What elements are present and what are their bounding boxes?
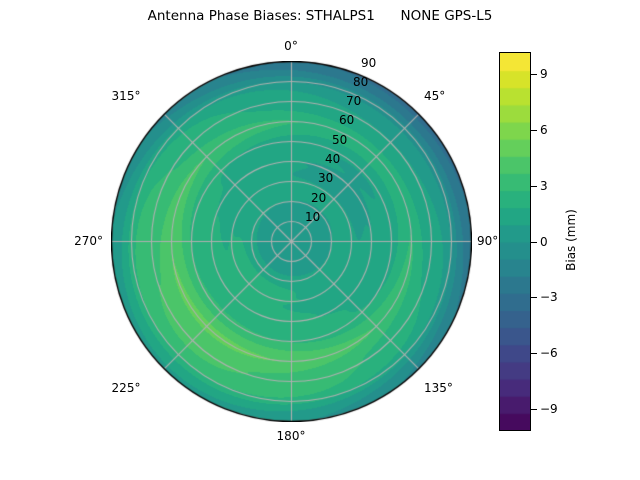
- colorbar-ticklabel-9: 9: [540, 67, 548, 81]
- figure-title: Antenna Phase Biases: STHALPS1 NONE GPS-…: [0, 8, 640, 24]
- colorbar-tick-6: [531, 130, 537, 131]
- colorbar-tick-9: [531, 74, 537, 75]
- theta-label-315: 315°: [112, 89, 141, 103]
- theta-label-45: 45°: [424, 89, 445, 103]
- colorbar-ticklabel-m6: −6: [540, 346, 558, 360]
- colorbar-ticklabel-m9: −9: [540, 402, 558, 416]
- colorbar-ticklabel-6: 6: [540, 123, 548, 137]
- polar-contour-plot: [111, 61, 472, 422]
- theta-label-135: 135°: [424, 381, 453, 395]
- figure-canvas: Antenna Phase Biases: STHALPS1 NONE GPS-…: [0, 0, 640, 480]
- colorbar-tick-m9: [531, 409, 537, 410]
- r-label-60: 60: [339, 113, 354, 127]
- theta-label-180: 180°: [277, 429, 306, 443]
- r-label-20: 20: [311, 191, 326, 205]
- r-label-50: 50: [332, 133, 347, 147]
- r-label-80: 80: [353, 75, 368, 89]
- colorbar: 9 6 3 0 −3 −6 −9 Bias (mm): [499, 52, 619, 432]
- polar-axes: 0° 45° 90° 135° 180° 225° 270° 315° 10 2…: [111, 61, 472, 422]
- theta-label-270: 270°: [74, 234, 103, 248]
- theta-label-0: 0°: [284, 39, 298, 53]
- r-label-70: 70: [346, 94, 361, 108]
- r-label-40: 40: [325, 152, 340, 166]
- r-label-10: 10: [305, 210, 320, 224]
- theta-label-90: 90°: [477, 234, 498, 248]
- colorbar-tick-m3: [531, 297, 537, 298]
- colorbar-ticklabel-m3: −3: [540, 290, 558, 304]
- colorbar-ticklabel-3: 3: [540, 179, 548, 193]
- r-label-30: 30: [318, 171, 333, 185]
- colorbar-tick-3: [531, 186, 537, 187]
- colorbar-tick-0: [531, 242, 537, 243]
- colorbar-gradient: [499, 52, 531, 431]
- colorbar-tick-m6: [531, 353, 537, 354]
- colorbar-ticklabel-0: 0: [540, 235, 548, 249]
- r-label-90: 90: [361, 56, 376, 70]
- theta-label-225: 225°: [112, 381, 141, 395]
- colorbar-axis-label: Bias (mm): [564, 209, 578, 271]
